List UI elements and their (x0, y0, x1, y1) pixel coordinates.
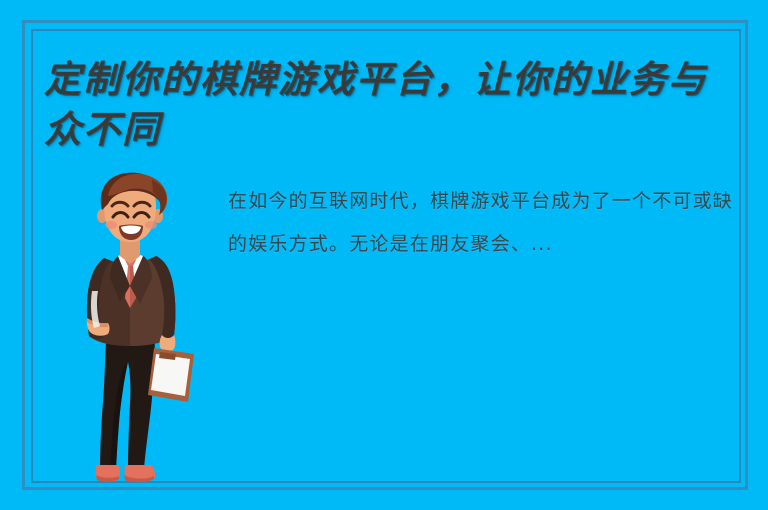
shoes-icon (95, 465, 155, 482)
trousers-icon (100, 330, 155, 469)
article-excerpt: 在如今的互联网时代，棋牌游戏平台成为了一个不可或缺的娱乐方式。无论是在朋友聚会、… (228, 180, 738, 266)
poster-canvas: 定制你的棋牌游戏平台，让你的业务与众不同 在如今的互联网时代，棋牌游戏平台成为了… (0, 0, 768, 510)
businessman-illustration (66, 172, 196, 484)
page-title: 定制你的棋牌游戏平台，让你的业务与众不同 (44, 54, 734, 154)
head-icon (97, 173, 167, 242)
clipboard-icon (148, 348, 194, 402)
